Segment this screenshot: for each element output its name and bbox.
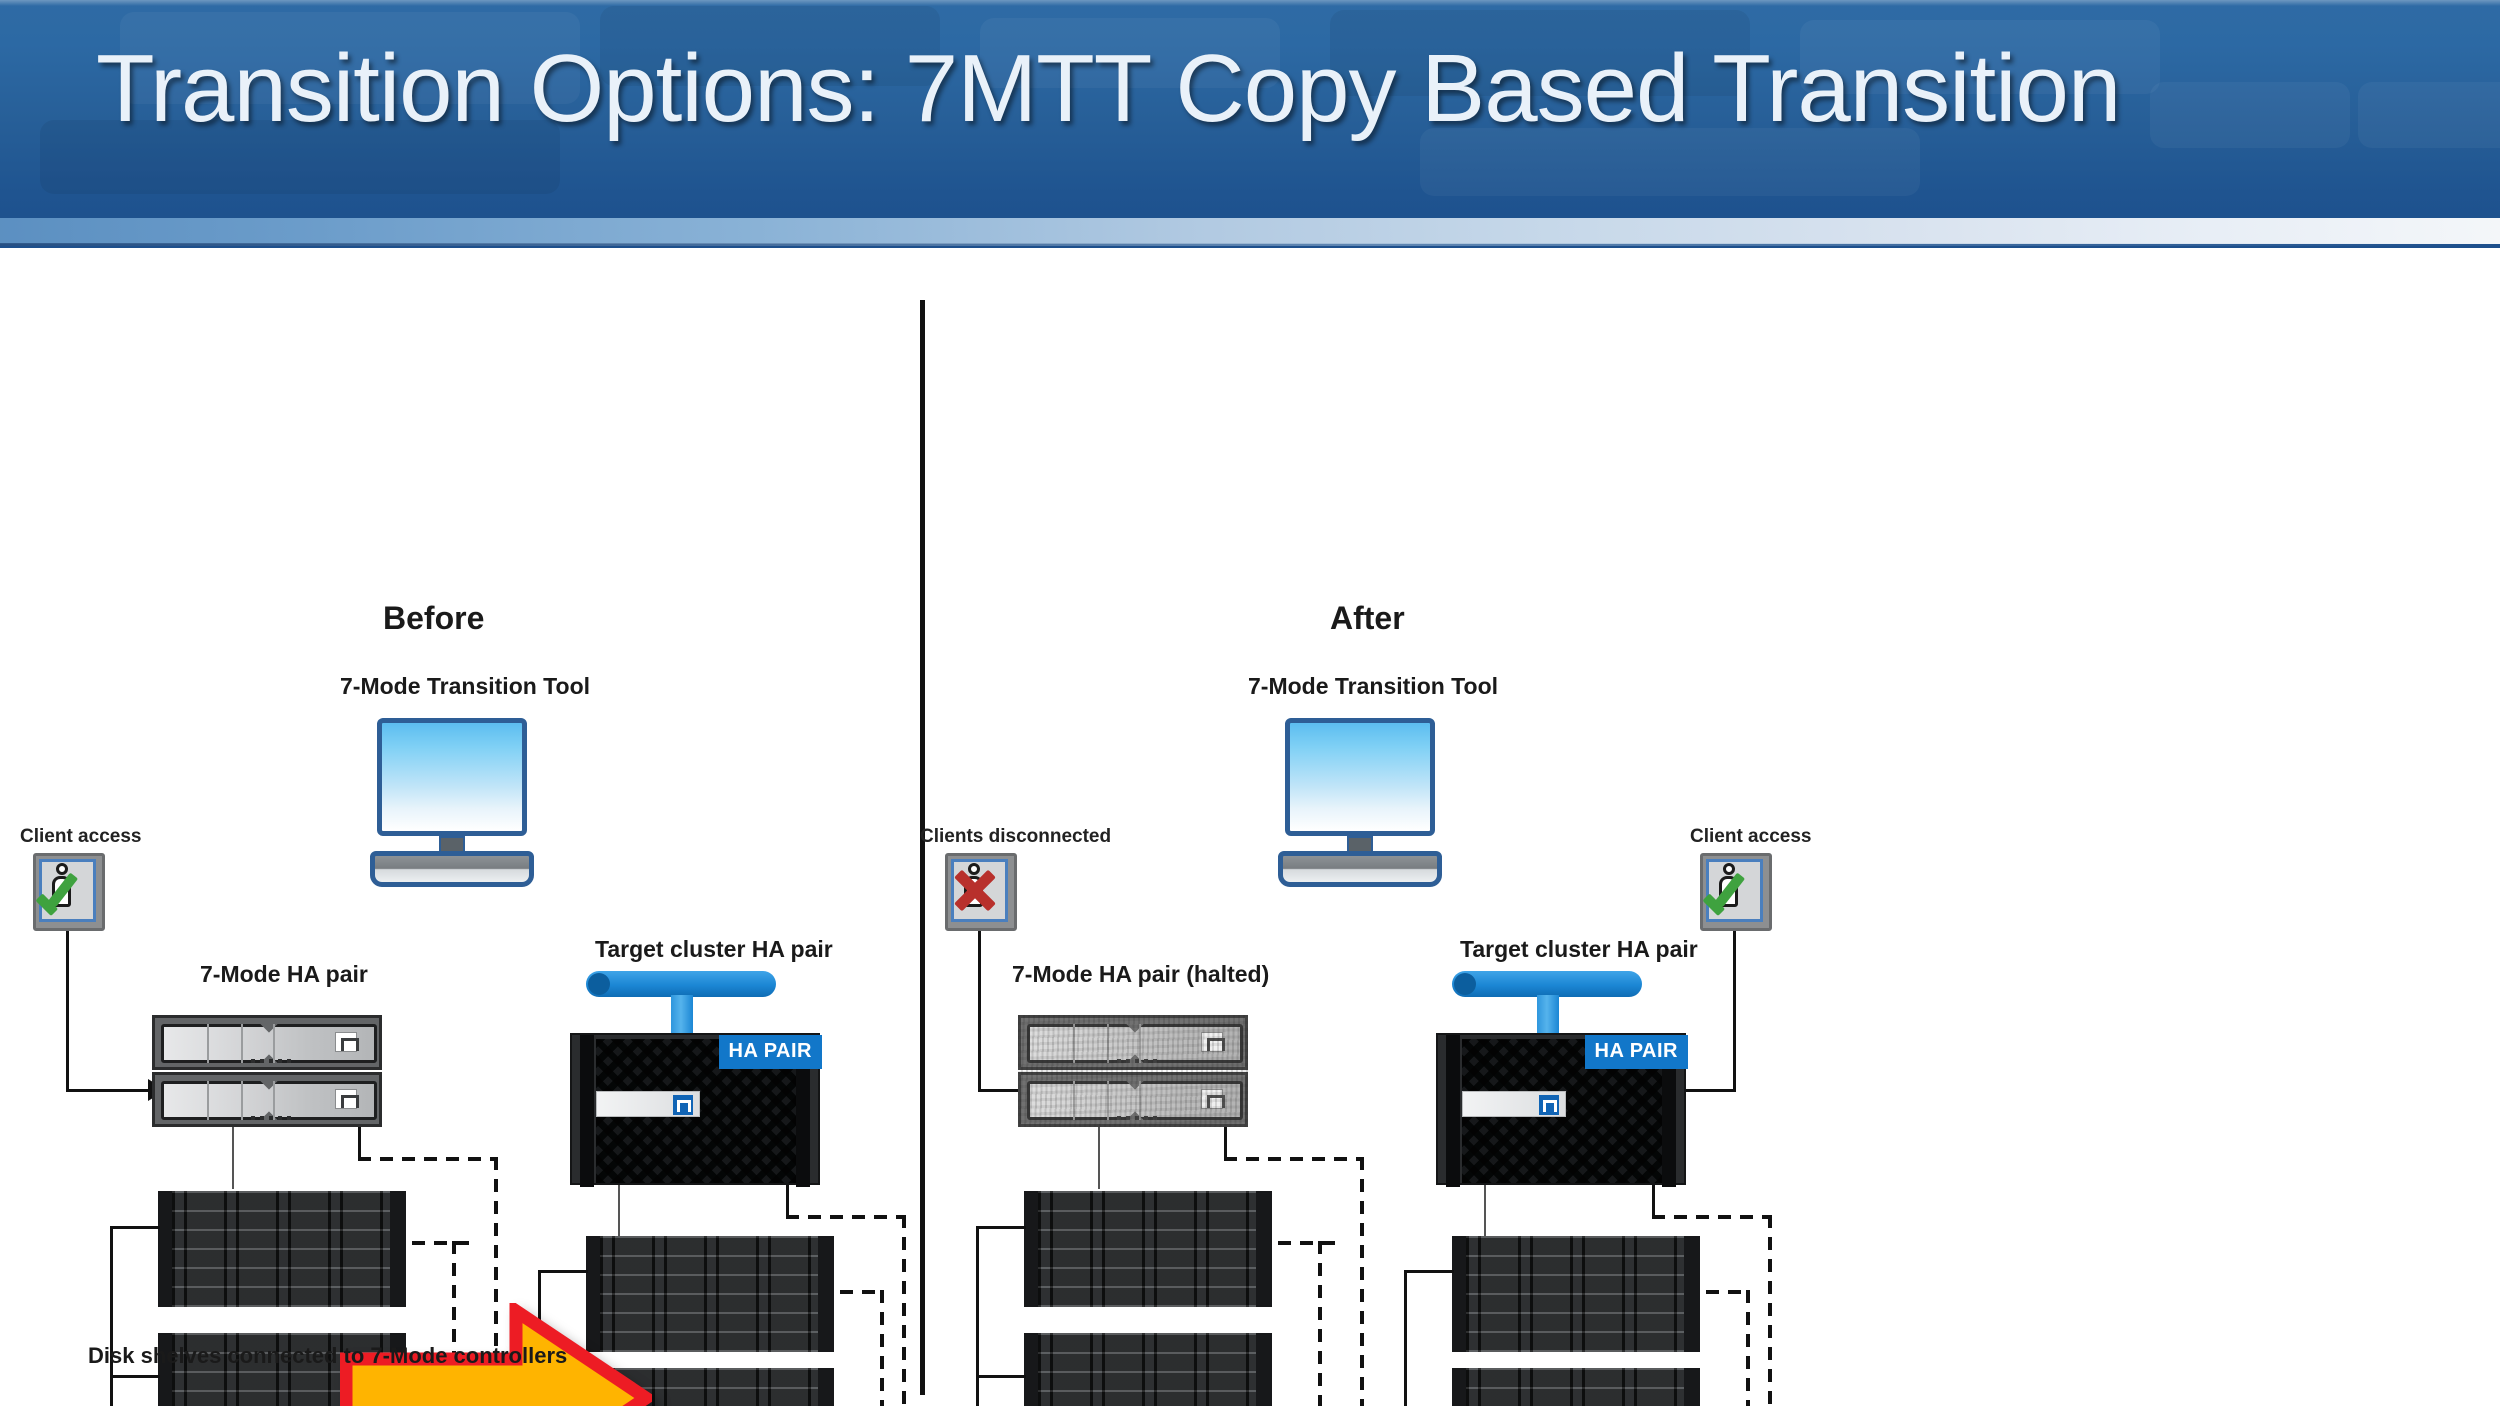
netapp-logo-icon — [1539, 1095, 1559, 1115]
disk-shelf — [1452, 1368, 1700, 1406]
shelf-face — [1466, 1368, 1684, 1406]
cluster-interconnect-stem — [671, 995, 693, 1037]
client-access-label-before: Client access — [20, 826, 141, 848]
person-head — [1723, 863, 1735, 875]
shelf-loop-dashed — [786, 1215, 906, 1219]
page-title: Transition Options: 7MTT Copy Based Tran… — [96, 30, 2416, 148]
disk-shelf — [158, 1191, 406, 1307]
disk-shelf — [1024, 1191, 1272, 1307]
shelves-note-before: Disk shelves connected to 7-Mode control… — [88, 1343, 567, 1369]
bezel-seam — [1107, 1024, 1109, 1063]
monitor-base — [370, 851, 534, 887]
monitor-screen — [1285, 718, 1435, 836]
tool-label-after: 7-Mode Transition Tool — [1248, 673, 1498, 700]
shelf-face — [1466, 1236, 1684, 1352]
bezel-seam — [1139, 1024, 1141, 1063]
shelf-loop-dashed — [412, 1241, 476, 1245]
source-label-after: 7-Mode HA pair (halted) — [1012, 961, 1269, 988]
shelf-left-cap — [1452, 1368, 1466, 1406]
shelf-loop-dashed — [1278, 1241, 1342, 1245]
diagram-canvas: Before 7-Mode Transition Tool Client acc… — [0, 248, 2500, 1406]
controller-shelf-link — [232, 1127, 234, 1189]
chassis-badge — [596, 1091, 700, 1117]
client-connector-line — [978, 931, 981, 1091]
target-label-before: Target cluster HA pair — [595, 936, 833, 963]
cluster-chassis: HA PAIR — [1436, 1033, 1686, 1185]
shelf-bracket — [110, 1375, 160, 1378]
controller-leds — [1117, 1116, 1159, 1120]
shelf-loop-dashed — [1746, 1290, 1750, 1406]
controller-unit — [152, 1072, 382, 1127]
netapp-logo-icon — [673, 1095, 693, 1115]
seven-mode-ha-pair-halted — [1018, 1015, 1248, 1127]
cluster-dashed-stub — [1652, 1185, 1655, 1217]
shelf-bracket — [110, 1376, 113, 1406]
shelf-loop-dashed — [1768, 1215, 1772, 1406]
netapp-logo-icon — [1201, 1032, 1223, 1052]
clients-disconnected-label: Clients disconnected — [920, 826, 1111, 848]
controller-dashed-stub — [358, 1127, 361, 1159]
cluster-interconnect-bar — [1452, 971, 1642, 997]
ha-pair-tag-after: HA PAIR — [1585, 1035, 1689, 1069]
shelf-bracket — [976, 1376, 979, 1406]
client-connector-line — [66, 931, 69, 1091]
shelf-loop-dashed — [358, 1157, 498, 1161]
netapp-logo-icon — [335, 1089, 357, 1109]
controller-leds — [1117, 1059, 1159, 1063]
panel-heading-before: Before — [383, 600, 484, 637]
shelf-loop-dashed — [1318, 1241, 1322, 1406]
bezel-seam — [207, 1081, 209, 1120]
slide-header: Transition Options: 7MTT Copy Based Tran… — [0, 0, 2500, 248]
bezel-seam — [273, 1024, 275, 1063]
shelf-face — [1038, 1333, 1256, 1406]
bezel-seam — [241, 1081, 243, 1120]
panel-heading-after: After — [1330, 600, 1405, 637]
shelf-bracket — [1404, 1270, 1454, 1273]
shelf-loop-dashed — [1652, 1215, 1772, 1219]
cluster-shelf-link — [1484, 1185, 1486, 1237]
bezel-seam — [1073, 1024, 1075, 1063]
bezel-seam — [1107, 1081, 1109, 1120]
shelf-loop-dashed — [1224, 1157, 1364, 1161]
disk-shelf — [1452, 1236, 1700, 1352]
target-label-after: Target cluster HA pair — [1460, 936, 1698, 963]
tool-label-before: 7-Mode Transition Tool — [340, 673, 590, 700]
shelf-right-cap — [818, 1236, 834, 1352]
controller-leds — [251, 1059, 293, 1063]
controller-unit — [1018, 1015, 1248, 1070]
bezel-seam — [1073, 1081, 1075, 1120]
shelf-right-cap — [1684, 1236, 1700, 1352]
shelf-bracket — [976, 1226, 979, 1378]
shelf-loop-dashed — [840, 1290, 884, 1294]
source-label-before: 7-Mode HA pair — [200, 961, 368, 988]
shelf-bracket — [1404, 1270, 1407, 1406]
controller-leds — [251, 1116, 293, 1120]
header-accent-stripe — [0, 218, 2500, 244]
shelf-right-cap — [390, 1191, 406, 1307]
controller-dashed-stub — [1224, 1127, 1227, 1159]
shelf-loop-dashed — [880, 1290, 884, 1406]
monitor-base — [1278, 851, 1442, 887]
shelf-left-cap — [1024, 1333, 1038, 1406]
shelf-right-cap — [818, 1368, 834, 1406]
shelf-loop-dashed — [902, 1215, 906, 1406]
client-connector-line — [66, 1089, 150, 1092]
chassis-badge — [1462, 1091, 1566, 1117]
controller-unit — [1018, 1072, 1248, 1127]
client-connector-line — [978, 1089, 1022, 1092]
shelf-bracket — [538, 1270, 588, 1273]
client-access-label-after: Client access — [1690, 826, 1811, 848]
shelf-left-cap — [1024, 1191, 1038, 1307]
shelf-right-cap — [1684, 1368, 1700, 1406]
shelf-bracket — [976, 1375, 1026, 1378]
bezel-seam — [241, 1024, 243, 1063]
cluster-interconnect-bar — [586, 971, 776, 997]
netapp-logo-icon — [1201, 1089, 1223, 1109]
disk-shelf — [1024, 1333, 1272, 1406]
shelf-loop-dashed — [1706, 1290, 1750, 1294]
slide-root: Transition Options: 7MTT Copy Based Tran… — [0, 0, 2500, 1406]
cluster-dashed-stub — [786, 1185, 789, 1217]
controller-shelf-link — [1098, 1127, 1100, 1189]
shelf-face — [1038, 1191, 1256, 1307]
shelf-right-cap — [1256, 1191, 1272, 1307]
header-top-edge — [0, 0, 2500, 6]
shelf-face — [172, 1191, 390, 1307]
person-head — [56, 863, 68, 875]
controller-unit — [152, 1015, 382, 1070]
client-connector-line — [1733, 931, 1736, 1091]
cluster-interconnect-stem — [1537, 995, 1559, 1037]
netapp-logo-icon — [335, 1032, 357, 1052]
cross-icon — [951, 867, 997, 913]
shelf-bracket — [976, 1226, 1026, 1229]
chassis-left-rail — [580, 1035, 594, 1187]
cluster-shelf-link — [618, 1185, 620, 1237]
chassis-left-rail — [1446, 1035, 1460, 1187]
shelf-left-cap — [158, 1191, 172, 1307]
bezel-seam — [207, 1024, 209, 1063]
header-bottom-line — [0, 243, 2500, 246]
shelf-left-cap — [1452, 1236, 1466, 1352]
monitor-screen — [377, 718, 527, 836]
check-icon — [1706, 875, 1752, 909]
bezel-seam — [273, 1081, 275, 1120]
shelf-loop-dashed — [1360, 1157, 1364, 1406]
seven-mode-ha-pair-before — [152, 1015, 382, 1127]
shelf-bracket — [110, 1226, 160, 1229]
shelf-right-cap — [1256, 1333, 1272, 1406]
bezel-seam — [1139, 1081, 1141, 1120]
ha-pair-tag-before: HA PAIR — [719, 1035, 823, 1069]
cluster-chassis: HA PAIR — [570, 1033, 820, 1185]
check-icon — [39, 875, 85, 909]
